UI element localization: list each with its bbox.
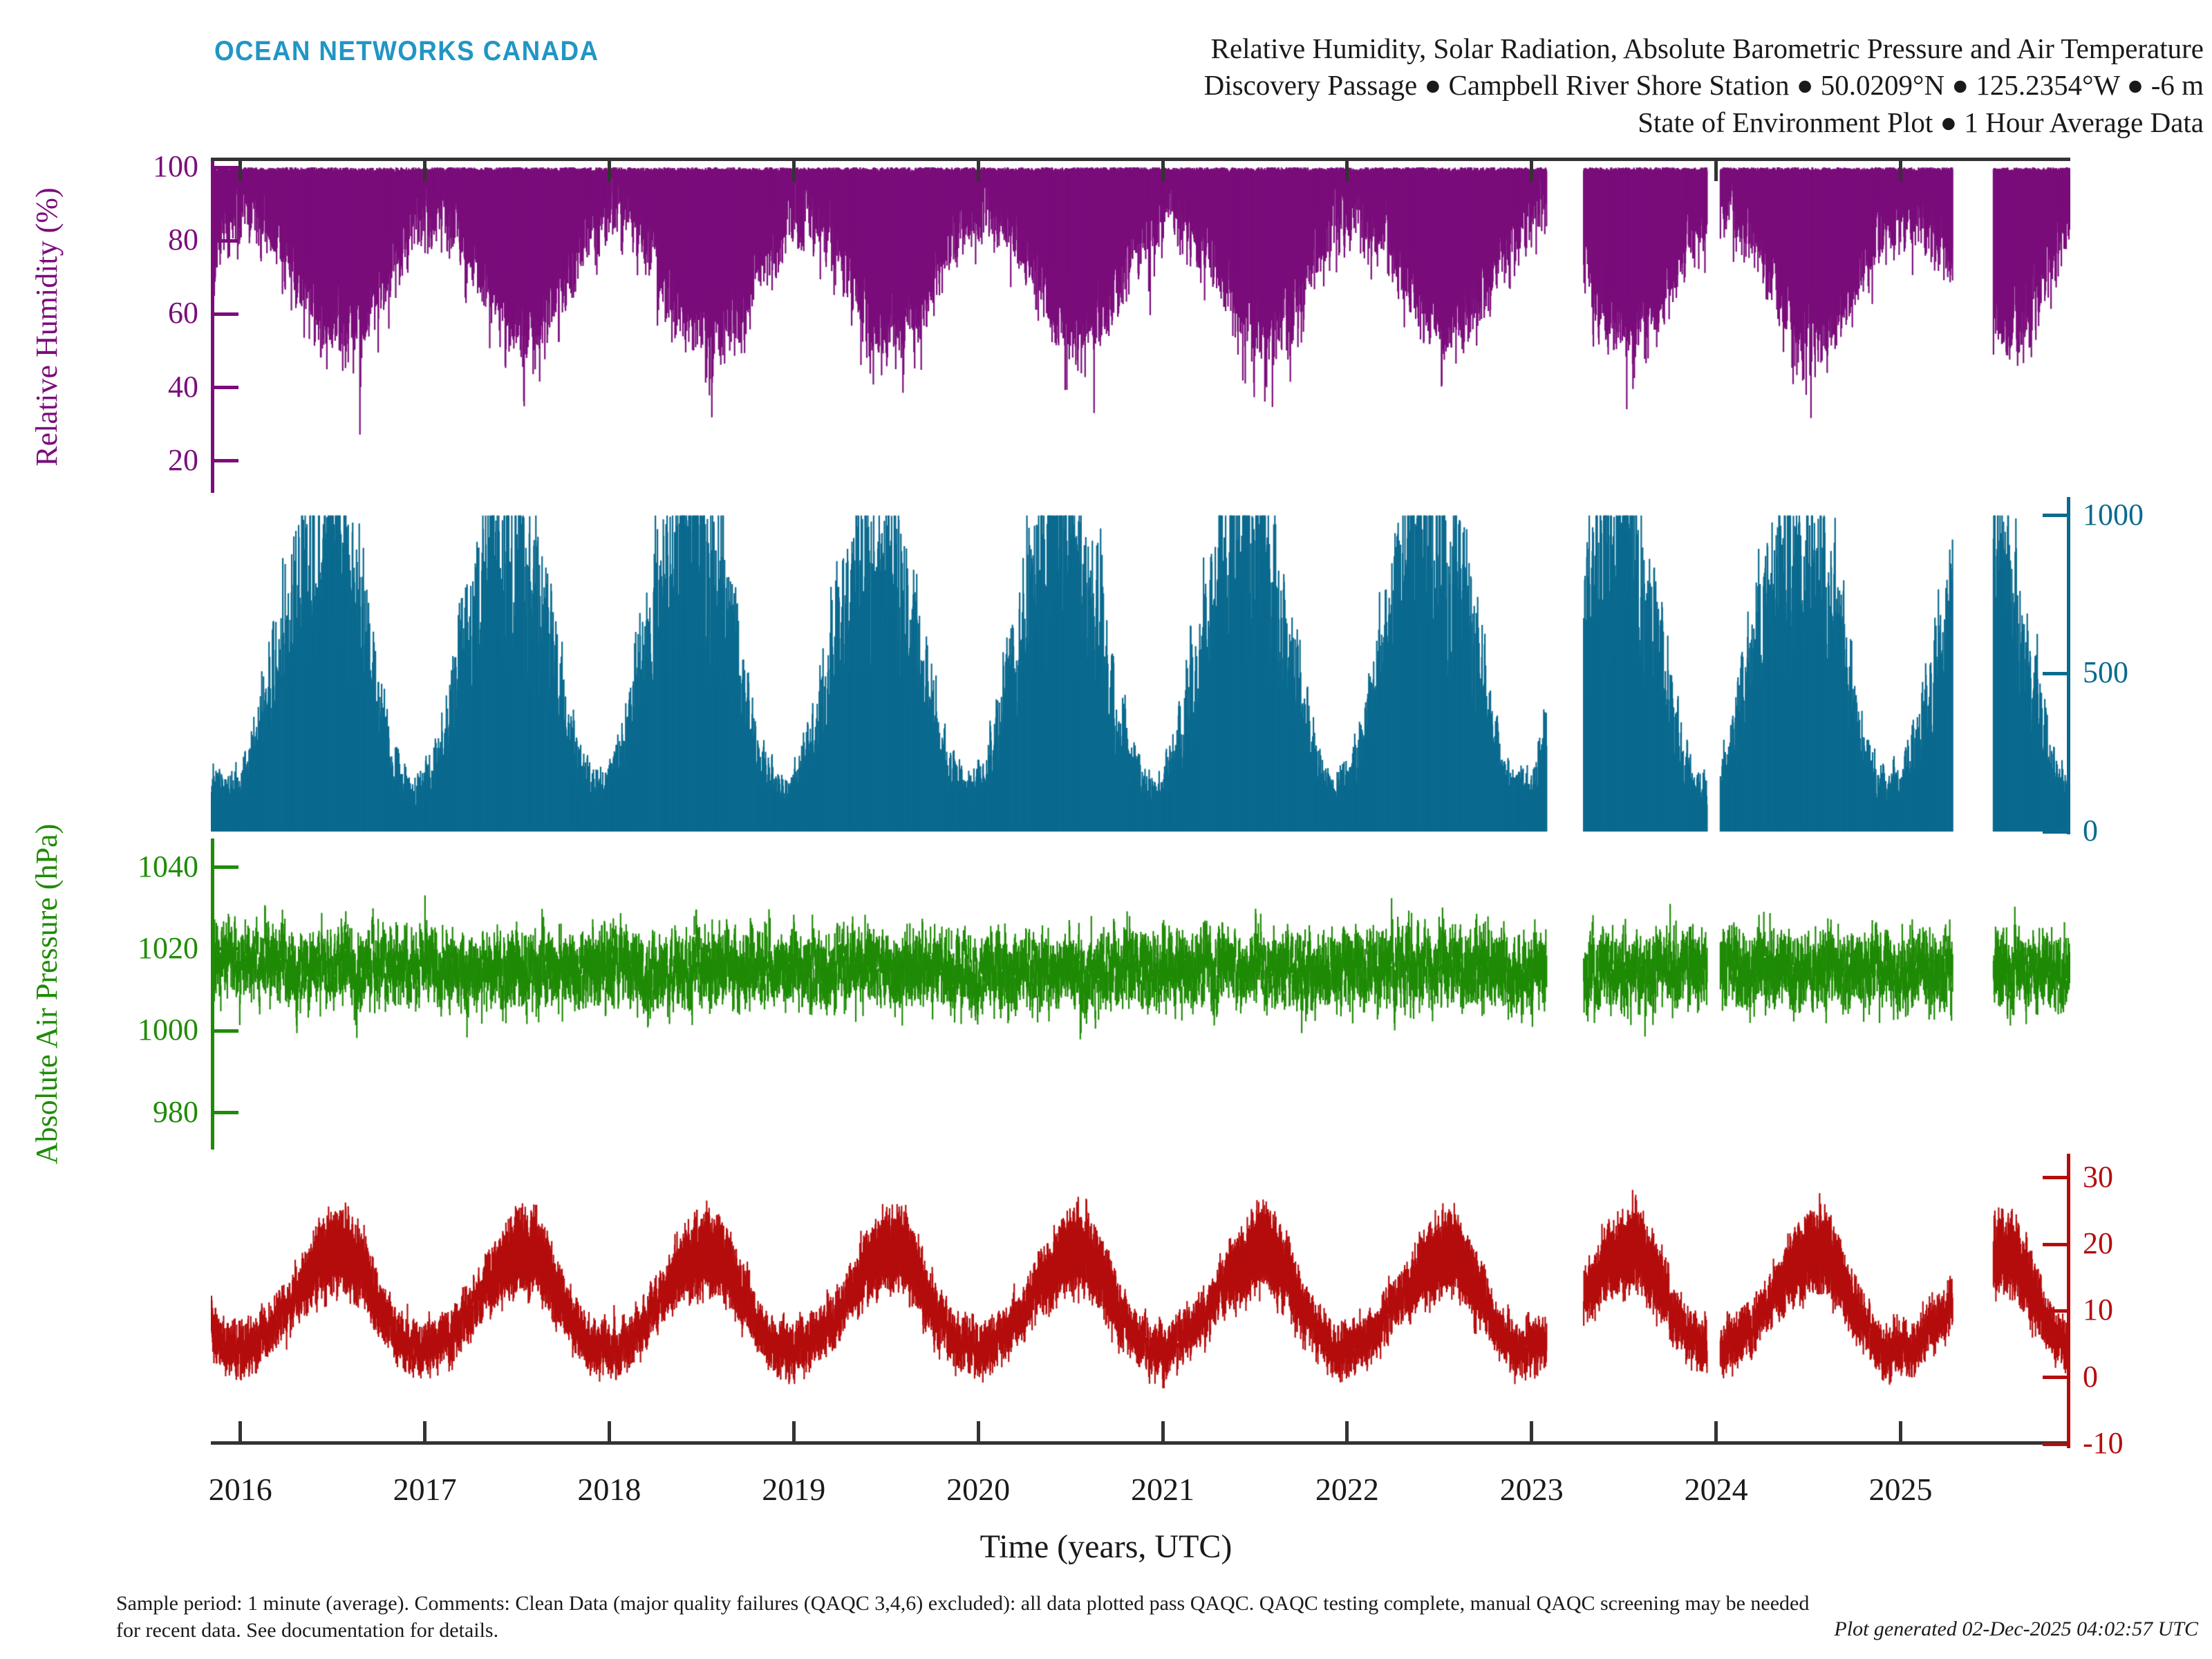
panel-absolute-air-pressure [211, 838, 2070, 1150]
global-radiation-tick-label: 500 [2083, 657, 2128, 688]
plot-area: 10080604020Relative Humidity (%)10005000… [211, 158, 2070, 1445]
ocean-networks-canada-logo: OCEAN NETWORKS CANADA [214, 36, 599, 67]
x-tick-top [238, 158, 242, 181]
x-tick-label: 2021 [1131, 1471, 1194, 1508]
x-tick-bottom [977, 1421, 980, 1445]
x-tick-bottom [1345, 1421, 1349, 1445]
air-temperature-tick-label: 10 [2083, 1295, 2113, 1325]
header: OCEAN NETWORKS CANADA Relative Humidity,… [0, 0, 2212, 149]
x-tick-top [1714, 158, 1718, 181]
x-axis-ticks-top [211, 158, 2070, 181]
x-axis-tick-labels: 2016201720182019202020212022202320242025 [0, 1471, 2212, 1512]
relative-humidity-tick [211, 239, 238, 243]
x-tick-label: 2016 [209, 1471, 272, 1508]
air-temperature-tick-label: 30 [2083, 1162, 2113, 1192]
air-temperature-tick-label: 0 [2083, 1362, 2098, 1392]
x-tick-top [1161, 158, 1165, 181]
global-radiation-tick-label: 0 [2083, 816, 2098, 846]
air-temperature-tick-label: 20 [2083, 1228, 2113, 1259]
relative-humidity-tick [211, 459, 238, 462]
air-temperature-tick [2043, 1176, 2070, 1179]
x-axis-title: Time (years, UTC) [0, 1528, 2212, 1566]
x-tick-label: 2017 [393, 1471, 457, 1508]
relative-humidity-tick [211, 312, 238, 316]
relative-humidity-axis-title: Relative Humidity (%) [29, 187, 64, 466]
global-radiation-tick [2043, 672, 2070, 675]
x-tick-bottom [423, 1421, 427, 1445]
global-radiation-tick-label: 1000 [2083, 500, 2144, 530]
global-radiation-series [211, 497, 2070, 834]
panel-relative-humidity [211, 161, 2070, 493]
absolute-air-pressure-tick-label: 1040 [138, 852, 198, 882]
x-tick-top [1345, 158, 1349, 181]
absolute-air-pressure-series [211, 838, 2070, 1150]
relative-humidity-tick [211, 386, 238, 389]
panel-air-temperature [211, 1154, 2070, 1448]
plot-title-line-2: Discovery Passage ● Campbell River Shore… [1204, 67, 2204, 104]
absolute-air-pressure-tick-label: 980 [153, 1097, 198, 1127]
x-tick-bottom [608, 1421, 611, 1445]
x-tick-bottom [1161, 1421, 1165, 1445]
plot-title-block: Relative Humidity, Solar Radiation, Abso… [1204, 30, 2204, 141]
x-axis-ticks-bottom [211, 1445, 2070, 1468]
air-temperature-series [211, 1154, 2070, 1448]
x-tick-top [977, 158, 980, 181]
relative-humidity-tick-label: 60 [168, 298, 198, 328]
relative-humidity-tick-label: 80 [168, 225, 198, 255]
x-tick-label: 2023 [1500, 1471, 1564, 1508]
x-tick-top [423, 158, 427, 181]
plot-title-line-1: Relative Humidity, Solar Radiation, Abso… [1204, 30, 2204, 67]
absolute-air-pressure-axis-title: Absolute Air Pressure (hPa) [29, 824, 64, 1165]
panel-global-radiation [211, 497, 2070, 834]
x-tick-bottom [238, 1421, 242, 1445]
absolute-air-pressure-tick [211, 947, 238, 950]
x-tick-bottom [792, 1421, 796, 1445]
x-tick-top [608, 158, 611, 181]
footer-generated-stamp: Plot generated 02-Dec-2025 04:02:57 UTC [1834, 1618, 2198, 1641]
absolute-air-pressure-tick [211, 1029, 238, 1033]
x-tick-top [1899, 158, 1902, 181]
x-tick-top [1530, 158, 1533, 181]
x-tick-bottom [1714, 1421, 1718, 1445]
x-tick-top [792, 158, 796, 181]
air-temperature-tick [2043, 1309, 2070, 1313]
global-radiation-tick [2043, 830, 2070, 834]
x-tick-label: 2019 [762, 1471, 825, 1508]
x-tick-label: 2020 [946, 1471, 1010, 1508]
relative-humidity-tick-label: 100 [153, 151, 198, 182]
x-tick-label: 2018 [577, 1471, 641, 1508]
absolute-air-pressure-tick [211, 1111, 238, 1114]
footer-qaqc-note: Sample period: 1 minute (average). Comme… [116, 1590, 1824, 1644]
global-radiation-tick [2043, 514, 2070, 517]
global-radiation-axis-spine [2067, 497, 2070, 834]
air-temperature-tick [2043, 1243, 2070, 1246]
relative-humidity-tick-label: 20 [168, 445, 198, 476]
air-temperature-tick [2043, 1376, 2070, 1379]
relative-humidity-series [211, 161, 2070, 493]
x-tick-bottom [1530, 1421, 1533, 1445]
air-temperature-tick-label: -10 [2083, 1428, 2124, 1459]
relative-humidity-axis-spine [211, 161, 214, 493]
x-tick-label: 2022 [1315, 1471, 1379, 1508]
x-tick-bottom [1899, 1421, 1902, 1445]
x-tick-label: 2024 [1685, 1471, 1748, 1508]
plot-title-line-3: State of Environment Plot ● 1 Hour Avera… [1204, 104, 2204, 141]
absolute-air-pressure-tick-label: 1020 [138, 933, 198, 964]
absolute-air-pressure-tick [211, 865, 238, 869]
absolute-air-pressure-axis-spine [211, 838, 214, 1150]
relative-humidity-tick-label: 40 [168, 372, 198, 402]
x-tick-label: 2025 [1868, 1471, 1932, 1508]
absolute-air-pressure-tick-label: 1000 [138, 1015, 198, 1045]
air-temperature-axis-spine [2067, 1154, 2070, 1448]
